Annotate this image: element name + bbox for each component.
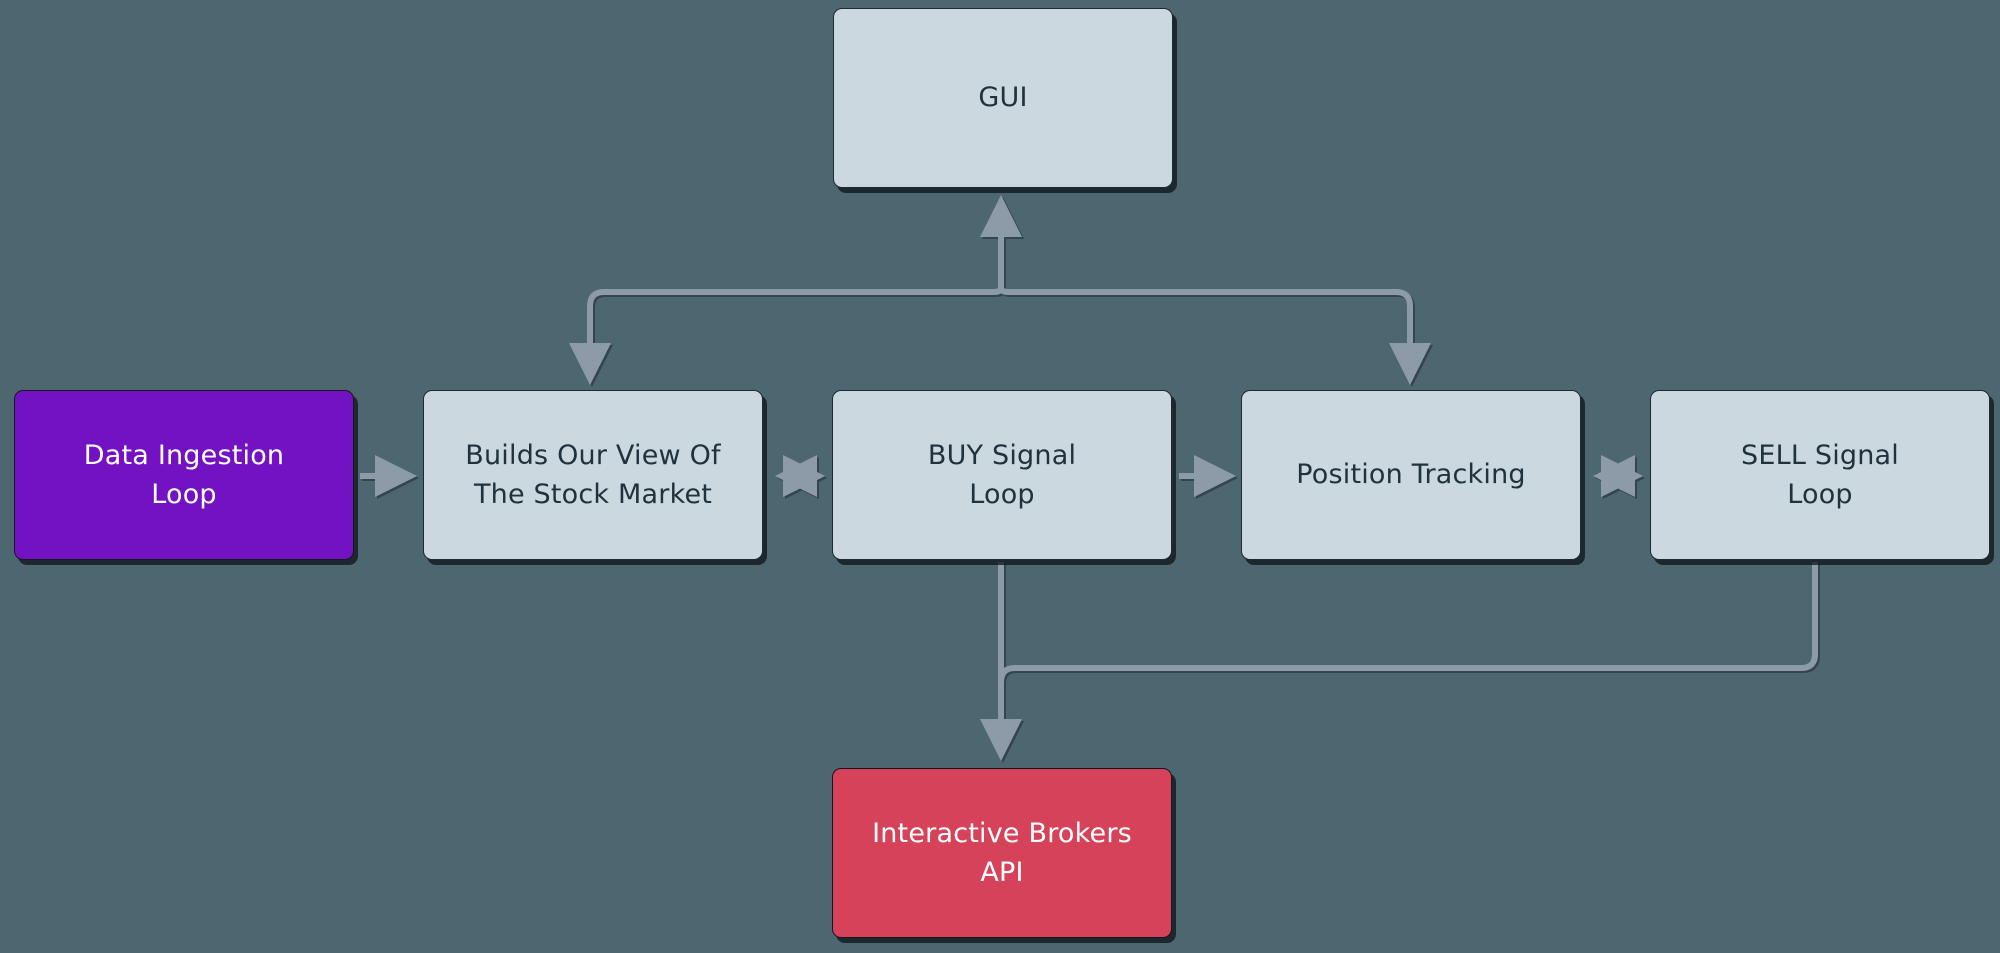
node-data-ingestion-loop[interactable]: Data Ingestion Loop — [14, 390, 354, 560]
node-sell-signal-loop[interactable]: SELL Signal Loop — [1650, 390, 1990, 560]
diagram-canvas: GUI Data Ingestion Loop Builds Our View … — [0, 0, 2000, 953]
node-data-ingestion-loop-label: Data Ingestion Loop — [70, 436, 298, 514]
node-gui-label: GUI — [964, 78, 1041, 117]
node-position-tracking[interactable]: Position Tracking — [1241, 390, 1581, 560]
node-buy-signal-loop-label: BUY Signal Loop — [914, 436, 1090, 514]
node-builds-our-view-of-the-stock-market[interactable]: Builds Our View Of The Stock Market — [423, 390, 763, 560]
edge-sell-signal-to-ib-api — [1001, 562, 1815, 682]
node-position-tracking-label: Position Tracking — [1282, 455, 1540, 494]
node-builds-our-view-label: Builds Our View Of The Stock Market — [451, 436, 735, 514]
edge-gui-to-builds-view — [590, 288, 1001, 378]
node-gui[interactable]: GUI — [833, 8, 1173, 188]
node-sell-signal-loop-label: SELL Signal Loop — [1727, 436, 1913, 514]
node-interactive-brokers-api-label: Interactive Brokers API — [858, 814, 1146, 892]
edge-gui-to-position-tracking — [1001, 288, 1410, 378]
node-buy-signal-loop[interactable]: BUY Signal Loop — [832, 390, 1172, 560]
node-interactive-brokers-api[interactable]: Interactive Brokers API — [832, 768, 1172, 938]
